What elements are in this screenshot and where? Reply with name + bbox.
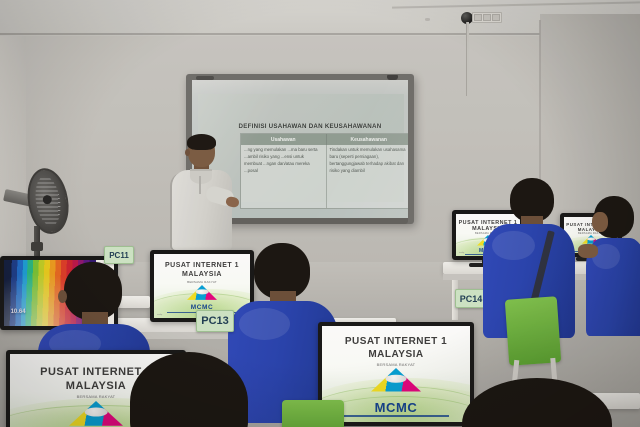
classroom-photo: DEFINISI USAHAWAN DAN KEUSAHAWANAN Usaha…: [0, 0, 640, 427]
wall-socket-plate[interactable]: [472, 12, 502, 23]
wallpaper-line1: PUSAT INTERNET 1: [322, 336, 470, 347]
presenter-hair: [187, 134, 216, 150]
wall-mark: [425, 18, 430, 21]
slide-cell-usahawan: ...ng yang memulakan ...ma baru serta ..…: [241, 145, 327, 208]
monitor-screen-text: 10.64: [11, 309, 26, 315]
camera-cable: [466, 22, 469, 96]
student-6: [452, 378, 632, 427]
student-face: [592, 212, 608, 232]
wallpaper-subtitle: BERSAMA RAKYAT: [322, 362, 470, 367]
student-head: [462, 378, 612, 427]
wallpaper-line2: MALAYSIA: [322, 349, 470, 360]
slide-column-usahawan: Usahawan: [241, 134, 327, 145]
fan-head-icon: [23, 165, 73, 236]
pc-label-pc13: PC13: [196, 310, 234, 332]
chair-right[interactable]: [505, 296, 561, 365]
student-ear: [58, 290, 67, 303]
wallpaper-corner-left: smkp: [157, 314, 162, 316]
fan-control-knob[interactable]: [31, 242, 43, 251]
slide-column-keusahawanan: Keusahawanan: [327, 134, 409, 145]
monitor-screen[interactable]: PUSAT INTERNET 1 MALAYSIA BERSAMA RAKYAT…: [322, 326, 470, 422]
mcmc-wordmark: MCMC: [322, 400, 470, 415]
slide-table: Usahawan Keusahawanan ...ng yang memulak…: [240, 133, 408, 209]
student-3: [586, 196, 640, 336]
chair-center[interactable]: [282, 400, 344, 427]
slide-table-header: Usahawan Keusahawanan: [241, 134, 408, 145]
desktop-wallpaper: PUSAT INTERNET 1 MALAYSIA BERSAMA RAKYAT…: [322, 326, 470, 422]
presenter-collar: [190, 169, 212, 184]
student-head: [130, 352, 248, 427]
presenter-ear: [185, 149, 190, 156]
student-5: [100, 352, 280, 427]
slide-title: DEFINISI USAHAWAN DAN KEUSAHAWANAN: [212, 123, 408, 130]
student-hand: [578, 244, 598, 258]
wallpaper-corner-left: smkp: [459, 252, 464, 254]
slide-cell-keusahawanan: Tindakan untuk memulakan usahasama baru …: [327, 145, 409, 208]
presenter-placket: [199, 176, 201, 194]
slide-table-body: ...ng yang memulakan ...ma baru serta ..…: [241, 145, 408, 208]
